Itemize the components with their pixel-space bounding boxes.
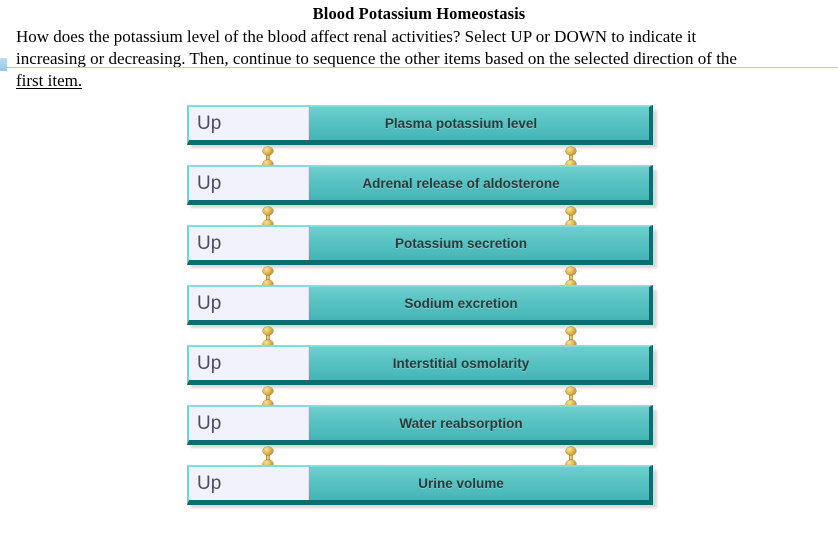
direction-select-value-6: Up bbox=[197, 414, 221, 433]
direction-select-value-3: Up bbox=[197, 234, 221, 253]
sequence-row-4[interactable]: Up Sodium excretion bbox=[187, 285, 657, 345]
direction-select-value-7: Up bbox=[197, 474, 221, 493]
row-label-zone: Potassium secretion bbox=[309, 227, 649, 260]
connector-bead-top bbox=[263, 267, 273, 275]
row-label-zone: Adrenal release of aldosterone bbox=[309, 167, 649, 200]
direction-select-2[interactable]: Up bbox=[189, 167, 309, 200]
sequence-bar[interactable]: Up Urine volume bbox=[187, 465, 653, 505]
sequence-row-1[interactable]: Up Plasma potassium level bbox=[187, 105, 657, 165]
header: Blood Potassium Homeostasis How does the… bbox=[0, 0, 838, 92]
prompt-block: How does the potassium level of the bloo… bbox=[0, 26, 838, 92]
connector-bead-top bbox=[566, 387, 576, 395]
connector-bead-top bbox=[263, 447, 273, 455]
row-label-2: Adrenal release of aldosterone bbox=[362, 176, 559, 191]
sequence-row-7[interactable]: Up Urine volume bbox=[187, 465, 657, 525]
direction-select-4[interactable]: Up bbox=[189, 287, 309, 320]
row-label-zone: Plasma potassium level bbox=[309, 107, 649, 140]
left-edge-marker-icon bbox=[0, 58, 7, 71]
direction-select-value-1: Up bbox=[197, 114, 221, 133]
row-label-3: Potassium secretion bbox=[395, 236, 527, 251]
direction-select-value-5: Up bbox=[197, 354, 221, 373]
direction-select-3[interactable]: Up bbox=[189, 227, 309, 260]
sequence-bar[interactable]: Up Water reabsorption bbox=[187, 405, 653, 445]
connector-bead-top bbox=[263, 327, 273, 335]
connector-bead-top bbox=[566, 207, 576, 215]
row-label-zone: Water reabsorption bbox=[309, 407, 649, 440]
direction-select-6[interactable]: Up bbox=[189, 407, 309, 440]
row-label-5: Interstitial osmolarity bbox=[393, 356, 530, 371]
sequence-bar[interactable]: Up Plasma potassium level bbox=[187, 105, 653, 145]
sequence-row-5[interactable]: Up Interstitial osmolarity bbox=[187, 345, 657, 405]
sequence-row-3[interactable]: Up Potassium secretion bbox=[187, 225, 657, 285]
row-label-7: Urine volume bbox=[418, 476, 504, 491]
row-label-1: Plasma potassium level bbox=[385, 116, 537, 131]
connector-bead-top bbox=[566, 327, 576, 335]
row-label-4: Sodium excretion bbox=[404, 296, 517, 311]
connector-bead-top bbox=[263, 387, 273, 395]
sequence-bar[interactable]: Up Sodium excretion bbox=[187, 285, 653, 325]
sequence-list: Up Plasma potassium level Up Adrenal rel… bbox=[187, 105, 657, 525]
connector-bead-top bbox=[566, 447, 576, 455]
direction-select-value-4: Up bbox=[197, 294, 221, 313]
direction-select-1[interactable]: Up bbox=[189, 107, 309, 140]
connector-bead-top bbox=[566, 147, 576, 155]
row-label-zone: Interstitial osmolarity bbox=[309, 347, 649, 380]
row-label-6: Water reabsorption bbox=[399, 416, 522, 431]
connector-bead-top bbox=[263, 147, 273, 155]
page-title: Blood Potassium Homeostasis bbox=[0, 4, 838, 24]
prompt-line-1: How does the potassium level of the bloo… bbox=[16, 26, 830, 48]
sequence-bar[interactable]: Up Interstitial osmolarity bbox=[187, 345, 653, 385]
direction-select-value-2: Up bbox=[197, 174, 221, 193]
prompt-line-3: first item. bbox=[16, 70, 830, 92]
row-label-zone: Urine volume bbox=[309, 467, 649, 500]
sequence-row-2[interactable]: Up Adrenal release of aldosterone bbox=[187, 165, 657, 225]
row-label-zone: Sodium excretion bbox=[309, 287, 649, 320]
connector-bead-top bbox=[566, 267, 576, 275]
connector-bead-top bbox=[263, 207, 273, 215]
sequence-bar[interactable]: Up Adrenal release of aldosterone bbox=[187, 165, 653, 205]
direction-select-7[interactable]: Up bbox=[189, 467, 309, 500]
sequence-row-6[interactable]: Up Water reabsorption bbox=[187, 405, 657, 465]
horizontal-rule bbox=[0, 67, 838, 68]
sequence-bar[interactable]: Up Potassium secretion bbox=[187, 225, 653, 265]
direction-select-5[interactable]: Up bbox=[189, 347, 309, 380]
